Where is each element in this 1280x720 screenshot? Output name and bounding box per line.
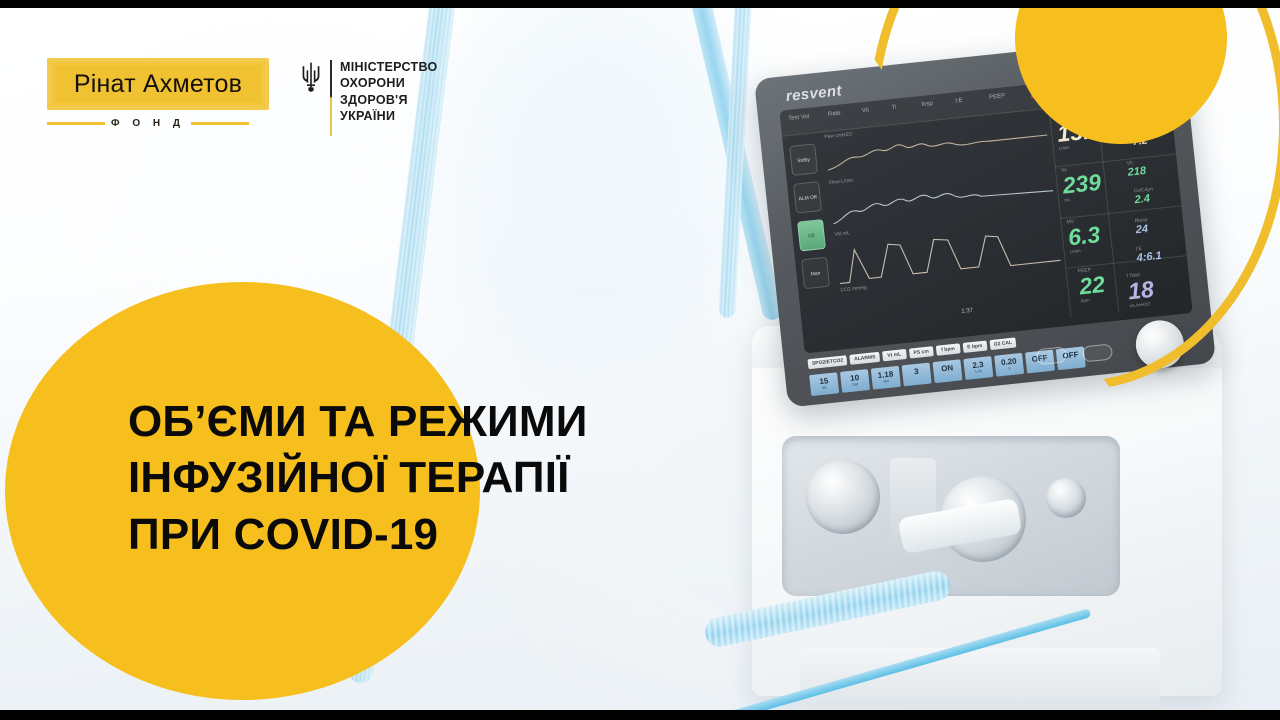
- foundation-logo-box: Рінат Ахметов: [47, 58, 269, 110]
- menu-chip[interactable]: SPO2/ETCO2: [807, 355, 847, 369]
- setting-chip[interactable]: 1.18 sec: [871, 366, 901, 389]
- lcd-tag: Vti: [862, 108, 870, 115]
- title-line-1: ОБ’ЄМИ ТА РЕЖИМИ: [128, 394, 768, 450]
- letterbox-bar-top: [0, 0, 1280, 8]
- lcd-tag: Ti: [891, 105, 896, 111]
- ukraine-trident-icon: [300, 62, 322, 92]
- setting-unit: sec: [875, 378, 897, 384]
- rule-right: [191, 122, 249, 125]
- foundation-logo[interactable]: Рінат Ахметов Ф О Н Д: [47, 58, 269, 138]
- main-title: ОБ’ЄМИ ТА РЕЖИМИ ІНФУЗІЙНОЇ ТЕРАПІЇ ПРИ …: [128, 394, 768, 563]
- setting-value: ON: [941, 363, 954, 373]
- title-line-3: ПРИ COVID-19: [128, 507, 768, 563]
- lcd-timestamp: 1:37: [961, 308, 973, 315]
- oxygen-button[interactable]: O2: [797, 219, 826, 252]
- ventilator-brand-label: resvent: [785, 82, 843, 105]
- rule-left: [47, 122, 105, 125]
- ventilator-port: [806, 460, 880, 534]
- ministry-line-2: ОХОРОНИ: [340, 76, 438, 91]
- ministry-logo[interactable]: МІНІСТЕРСТВО ОХОРОНИ ЗДОРОВ'Я УКРАЇНИ: [300, 60, 470, 136]
- setting-chip[interactable]: 3: [902, 363, 932, 386]
- menu-chip[interactable]: O2 CAL: [989, 337, 1016, 350]
- ministry-line-3: ЗДОРОВ'Я: [340, 93, 438, 108]
- menu-chip[interactable]: Vt mL: [882, 349, 907, 361]
- setting-unit: bar: [844, 382, 866, 388]
- menu-chip[interactable]: E bpm: [962, 341, 987, 353]
- foundation-subtitle: Ф О Н Д: [111, 118, 185, 129]
- title-line-2: ІНФУЗІЙНОЇ ТЕРАПІЇ: [128, 450, 768, 506]
- foundation-name: Рінат Ахметов: [74, 70, 242, 99]
- alarm-mute-button[interactable]: ALM Off: [793, 181, 822, 214]
- video-thumbnail: resvent Test Vol Rate Vti Ti Insp I:E PE…: [0, 0, 1280, 720]
- ventilator-port: [1046, 478, 1086, 518]
- setting-unit: s: [998, 365, 1020, 371]
- setting-chip[interactable]: 10 bar: [840, 369, 870, 392]
- foundation-subtitle-row: Ф О Н Д: [47, 114, 269, 132]
- manual-breath-button[interactable]: Man: [801, 257, 830, 290]
- header-logos: Рінат Ахметов Ф О Н Д: [0, 8, 480, 158]
- ministry-text-block: МІНІСТЕРСТВО ОХОРОНИ ЗДОРОВ'Я УКРАЇНИ: [340, 60, 438, 124]
- menu-chip[interactable]: ALARMS: [850, 352, 880, 365]
- setting-chip[interactable]: 0.20 s: [994, 353, 1024, 376]
- setting-value: 3: [914, 367, 919, 376]
- standby-button[interactable]: Stdby: [789, 143, 818, 176]
- setting-unit: L/m: [968, 369, 990, 375]
- setting-chip[interactable]: 2.3 L/m: [963, 356, 993, 379]
- ministry-line-4: УКРАЇНИ: [340, 109, 438, 124]
- menu-chip[interactable]: f bpm: [936, 343, 961, 355]
- setting-chip[interactable]: ON: [932, 359, 962, 382]
- setting-chip[interactable]: 15 mL: [809, 372, 839, 395]
- menu-chip[interactable]: PS cm: [909, 346, 934, 358]
- setting-unit: mL: [813, 385, 835, 391]
- letterbox-bar-bottom: [0, 710, 1280, 720]
- ministry-divider: [330, 60, 332, 136]
- foundation-logo-inner: Рінат Ахметов: [55, 65, 261, 103]
- ministry-line-1: МІНІСТЕРСТВО: [340, 60, 438, 75]
